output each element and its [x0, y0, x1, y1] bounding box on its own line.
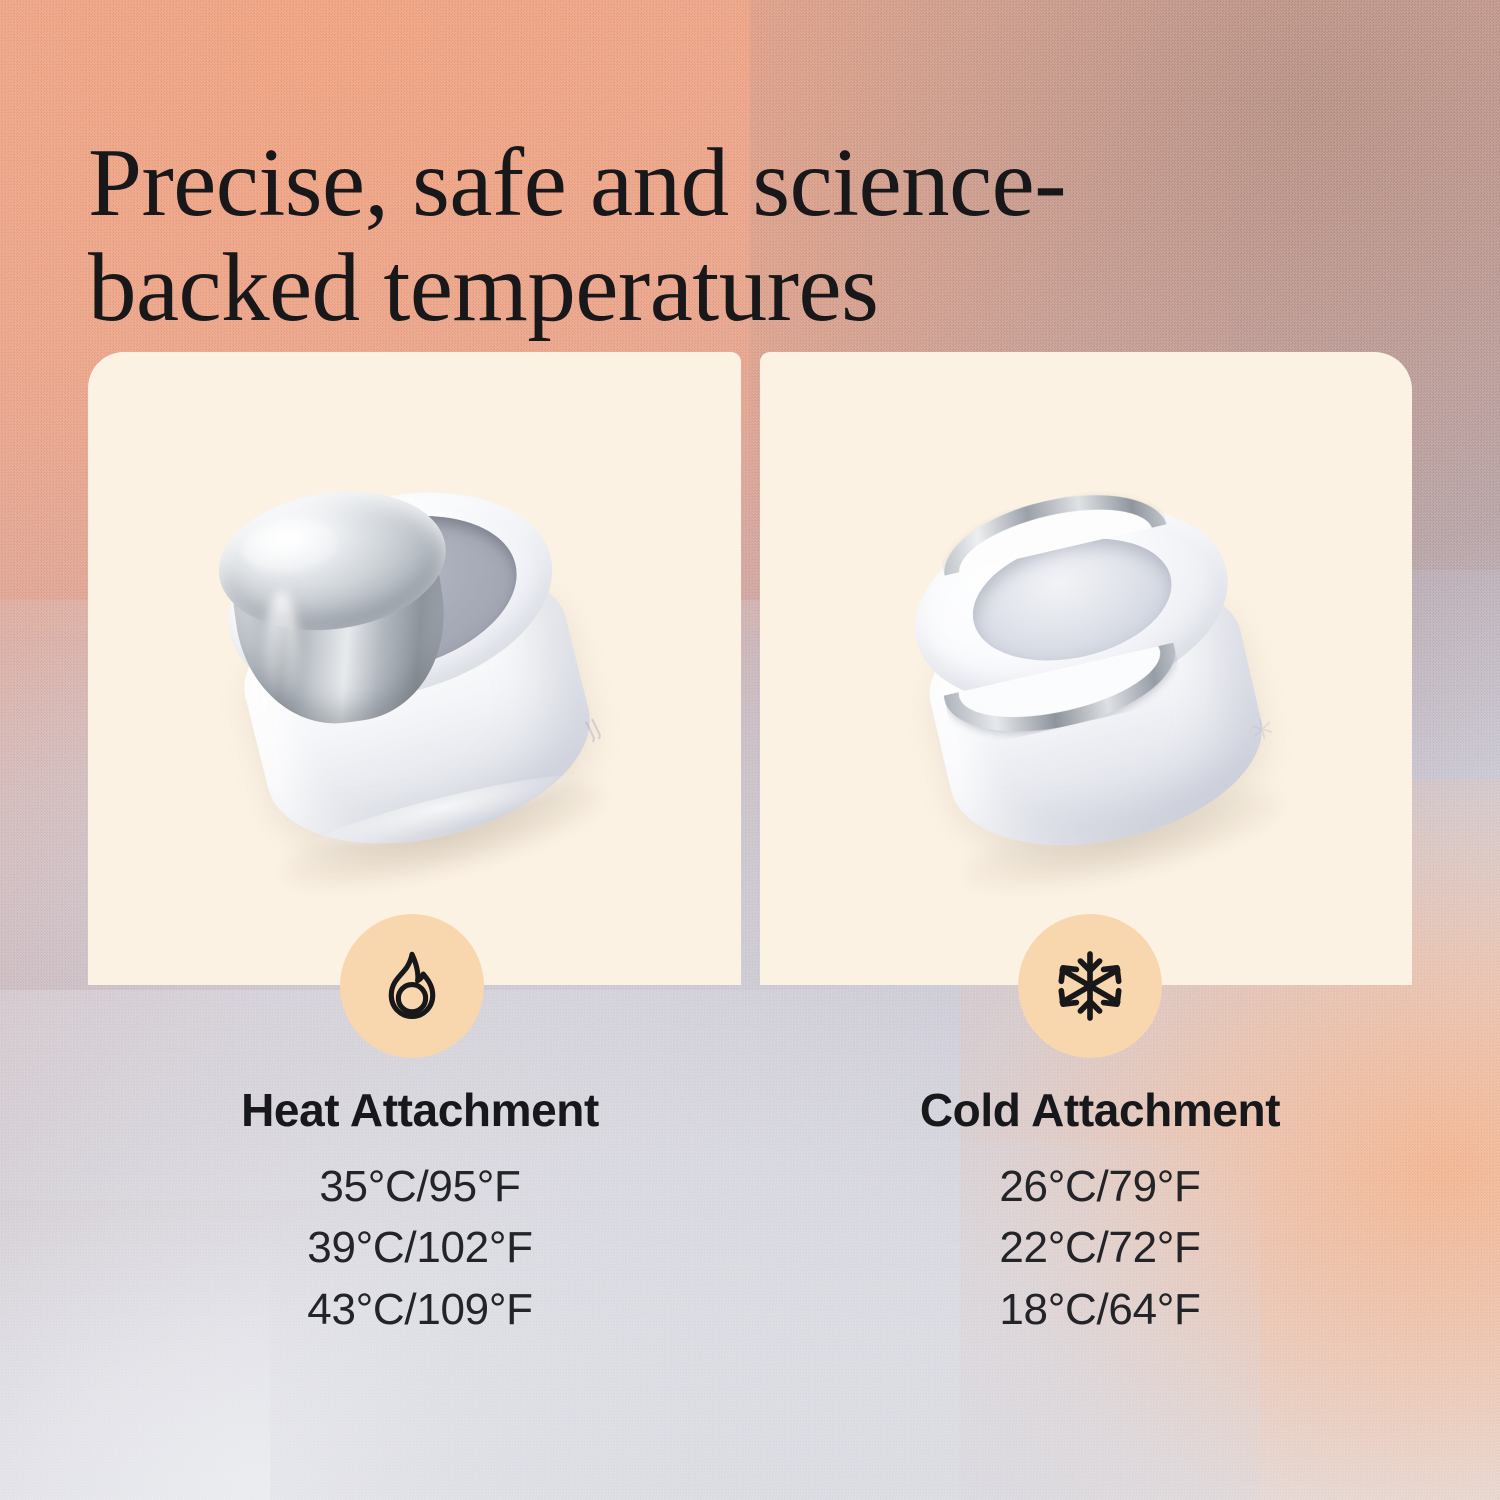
heat-temperature-list: 35°C/95°F 39°C/102°F 43°C/109°F — [150, 1156, 690, 1339]
temperature-item: 35°C/95°F — [150, 1156, 690, 1217]
heat-text-block: Heat Attachment 35°C/95°F 39°C/102°F 43°… — [150, 1086, 690, 1340]
temperature-item: 26°C/79°F — [830, 1156, 1370, 1217]
page-title: Precise, safe and science- backed temper… — [88, 131, 1268, 341]
temperature-item: 39°C/102°F — [150, 1217, 690, 1278]
heat-product-stage — [88, 352, 741, 985]
cold-badge — [1018, 914, 1162, 1058]
product-card-cold[interactable] — [760, 352, 1413, 985]
cold-attachment-title: Cold Attachment — [830, 1086, 1370, 1134]
cold-product-stage — [760, 352, 1413, 985]
snowflake-logo-mark — [1246, 713, 1277, 744]
temperature-item: 43°C/109°F — [150, 1279, 690, 1340]
cold-attachment-product — [873, 462, 1303, 892]
heat-badge — [340, 914, 484, 1058]
snowflake-icon — [1049, 945, 1131, 1027]
cold-temperature-list: 26°C/79°F 22°C/72°F 18°C/64°F — [830, 1156, 1370, 1339]
heat-attachment-product — [193, 460, 623, 890]
product-card-heat[interactable] — [88, 352, 741, 985]
product-card-row — [88, 352, 1412, 985]
cold-text-block: Cold Attachment 26°C/79°F 22°C/72°F 18°C… — [830, 1086, 1370, 1340]
flame-icon — [373, 947, 451, 1025]
heat-metal-cone — [202, 470, 482, 750]
temperature-item: 22°C/72°F — [830, 1217, 1370, 1278]
heat-attachment-title: Heat Attachment — [150, 1086, 690, 1134]
temperature-item: 18°C/64°F — [830, 1279, 1370, 1340]
product-feature-poster: Precise, safe and science- backed temper… — [0, 0, 1500, 1500]
